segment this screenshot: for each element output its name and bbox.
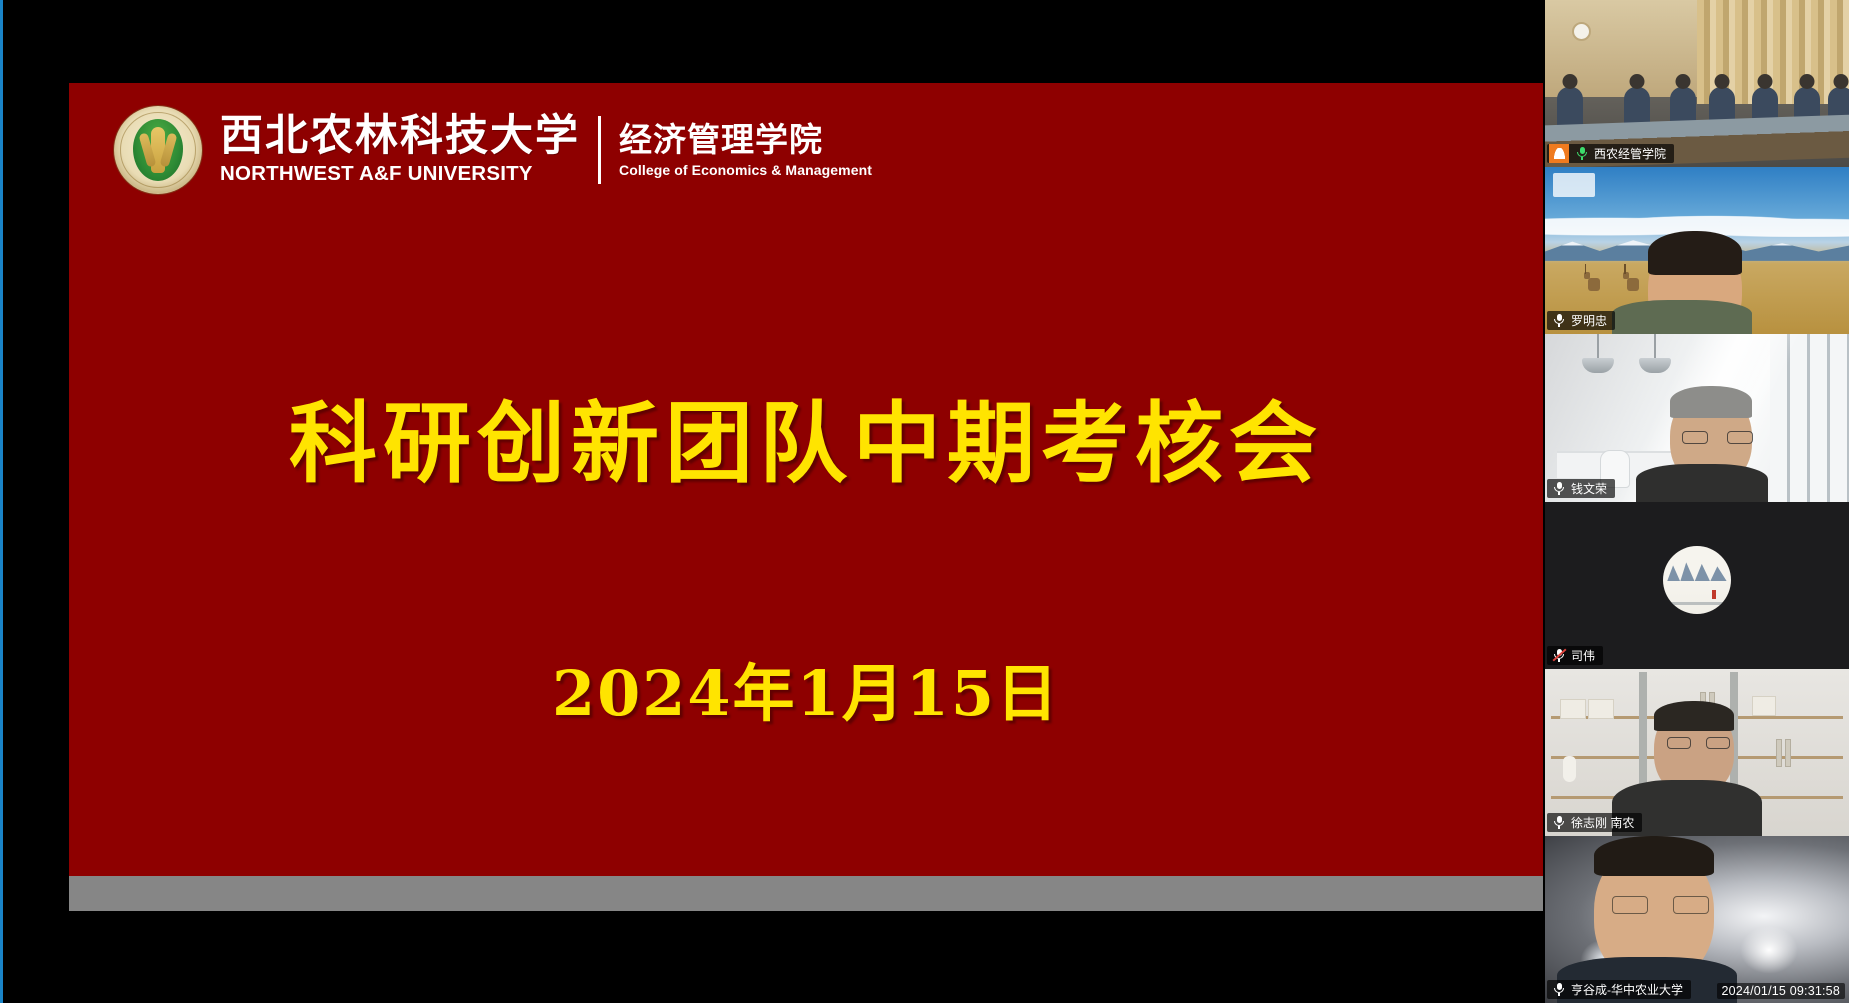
video-feed	[1545, 669, 1849, 836]
microphone-icon	[1552, 481, 1566, 496]
background-watermark	[1553, 173, 1595, 197]
university-name-cn: 西北农林科技大学	[220, 114, 580, 159]
host-badge-icon	[1549, 144, 1569, 163]
participant-tile[interactable]: 司伟	[1545, 502, 1849, 669]
university-name-en: NORTHWEST A&F UNIVERSITY	[220, 162, 580, 186]
participant-tile[interactable]: 徐志刚 南农	[1545, 669, 1849, 836]
participant-name-tag: 司伟	[1547, 646, 1603, 665]
participant-tile[interactable]: 亨谷成-华中农业大学 2024/01/15 09:31:58	[1545, 836, 1849, 1003]
video-feed	[1545, 0, 1849, 167]
college-name-en: College of Economics & Management	[619, 162, 872, 178]
participant-tile[interactable]: 西农经管学院	[1545, 0, 1849, 167]
shared-screen-stage[interactable]: 西北农林科技大学 NORTHWEST A&F UNIVERSITY 经济管理学院…	[3, 0, 1548, 1003]
participant-name: 司伟	[1571, 647, 1595, 664]
participant-name: 西农经管学院	[1594, 145, 1666, 162]
participant-tile[interactable]: 钱文荣	[1545, 334, 1849, 501]
meeting-window: 西北农林科技大学 NORTHWEST A&F UNIVERSITY 经济管理学院…	[0, 0, 1849, 1003]
microphone-icon	[1575, 146, 1589, 161]
wordmark: 西北农林科技大学 NORTHWEST A&F UNIVERSITY 经济管理学院…	[220, 114, 872, 185]
participant-name: 亨谷成-华中农业大学	[1571, 981, 1683, 998]
presentation-slide: 西北农林科技大学 NORTHWEST A&F UNIVERSITY 经济管理学院…	[69, 83, 1543, 911]
video-feed	[1545, 334, 1849, 501]
participant-name-tag: 亨谷成-华中农业大学	[1547, 980, 1691, 999]
participant-tile[interactable]: 罗明忠	[1545, 167, 1849, 334]
microphone-icon	[1552, 982, 1566, 997]
microphone-icon	[1552, 815, 1566, 830]
participant-name: 钱文荣	[1571, 480, 1607, 497]
microphone-icon	[1552, 313, 1566, 328]
participant-name: 徐志刚 南农	[1571, 814, 1634, 831]
video-feed	[1545, 836, 1849, 1003]
university-crest-icon	[114, 106, 202, 194]
slide-title: 科研创新团队中期考核会	[69, 373, 1543, 500]
slide-footer-bar	[69, 876, 1543, 911]
participant-name-tag: 西农经管学院	[1547, 144, 1674, 163]
video-feed	[1545, 502, 1849, 669]
participant-name-tag: 钱文荣	[1547, 479, 1615, 498]
participant-name-tag: 徐志刚 南农	[1547, 813, 1642, 832]
video-feed	[1545, 167, 1849, 334]
college-name-cn: 经济管理学院	[619, 122, 872, 158]
participant-name-tag: 罗明忠	[1547, 311, 1615, 330]
slide-date: 2024年1月15日	[69, 643, 1543, 733]
university-logo-lockup: 西北农林科技大学 NORTHWEST A&F UNIVERSITY 经济管理学院…	[114, 106, 872, 194]
meeting-timestamp: 2024/01/15 09:31:58	[1717, 983, 1846, 999]
microphone-muted-icon	[1552, 648, 1566, 663]
avatar	[1663, 546, 1731, 614]
participant-name: 罗明忠	[1571, 312, 1607, 329]
participant-filmstrip[interactable]: 西农经管学院 罗明忠	[1545, 0, 1849, 1003]
logo-divider	[598, 116, 601, 184]
